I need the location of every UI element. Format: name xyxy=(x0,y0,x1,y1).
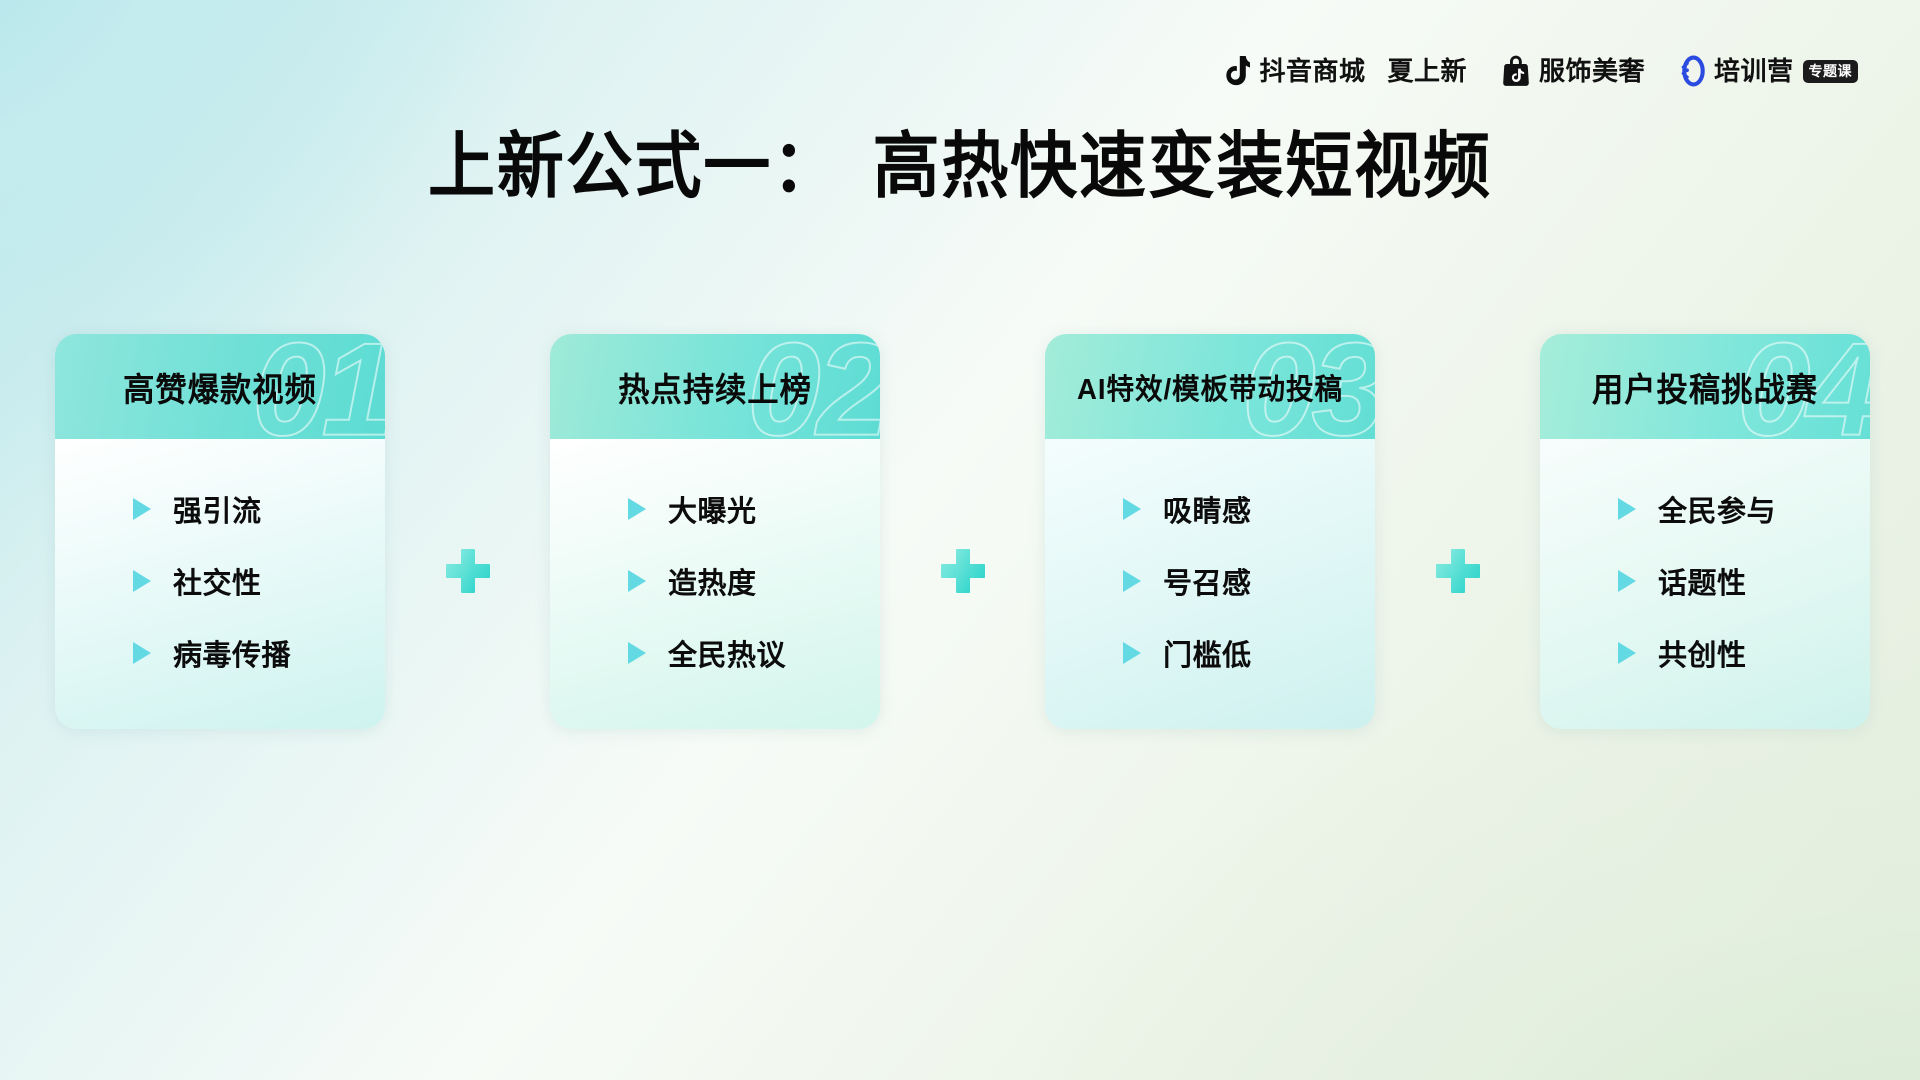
training-camp-logo-icon xyxy=(1677,55,1707,87)
list-item: 病毒传播 xyxy=(133,635,385,670)
bullet-list-4: 全民参与 话题性 共创性 xyxy=(1540,491,1870,670)
camp-label: 培训营 xyxy=(1714,58,1794,84)
card-heading: 高赞爆款视频 xyxy=(123,363,317,411)
list-item: 号召感 xyxy=(1123,563,1375,598)
formula-card-2[interactable]: 02 热点持续上榜 大曝光 造热度 全民热议 xyxy=(550,334,880,729)
plus-icon xyxy=(1436,549,1480,593)
brand-campaign-label: 夏上新 xyxy=(1387,58,1467,84)
list-item: 社交性 xyxy=(133,563,385,598)
list-item: 共创性 xyxy=(1618,635,1870,670)
bullet-label: 全民参与 xyxy=(1658,488,1776,530)
card-body-3: 吸睛感 号召感 门槛低 xyxy=(1045,439,1375,729)
list-item: 造热度 xyxy=(628,563,880,598)
bullet-label: 社交性 xyxy=(173,560,262,602)
triangle-bullet-icon xyxy=(1123,498,1141,520)
plus-separator-1 xyxy=(385,334,550,729)
card-body-1: 强引流 社交性 病毒传播 xyxy=(55,439,385,729)
triangle-bullet-icon xyxy=(133,642,151,664)
card-body-2: 大曝光 造热度 全民热议 xyxy=(550,439,880,729)
card-header-2: 02 热点持续上榜 xyxy=(550,334,880,439)
bullet-label: 病毒传播 xyxy=(173,632,291,674)
formula-card-4[interactable]: 04 用户投稿挑战赛 全民参与 话题性 共创性 xyxy=(1540,334,1870,729)
shopping-bag-icon xyxy=(1501,55,1531,87)
list-item: 大曝光 xyxy=(628,491,880,526)
bullet-list-3: 吸睛感 号召感 门槛低 xyxy=(1045,491,1375,670)
card-heading: AI特效/模板带动投稿 xyxy=(1077,366,1343,408)
bullet-label: 门槛低 xyxy=(1163,632,1252,674)
formula-cards-row: 01 高赞爆款视频 强引流 社交性 病毒传播 02 热点持续上榜 xyxy=(55,334,1869,729)
page-title-main: 高热快速变装短视频 xyxy=(873,127,1492,207)
bullet-label: 大曝光 xyxy=(668,488,757,530)
card-body-4: 全民参与 话题性 共创性 xyxy=(1540,439,1870,729)
brand-name-label: 抖音商城 xyxy=(1259,58,1365,84)
list-item: 全民热议 xyxy=(628,635,880,670)
card-header-1: 01 高赞爆款视频 xyxy=(55,334,385,439)
category-label: 服饰美奢 xyxy=(1539,58,1645,84)
tiktok-note-icon xyxy=(1223,56,1250,87)
page-title: 上新公式一：高热快速变装短视频 xyxy=(67,128,1853,207)
bullet-label: 强引流 xyxy=(173,488,262,530)
triangle-bullet-icon xyxy=(133,498,151,520)
triangle-bullet-icon xyxy=(133,570,151,592)
triangle-bullet-icon xyxy=(1123,570,1141,592)
list-item: 全民参与 xyxy=(1618,491,1870,526)
brand-douyin-mall: 抖音商城 夏上新 xyxy=(1223,56,1467,87)
formula-card-1[interactable]: 01 高赞爆款视频 强引流 社交性 病毒传播 xyxy=(55,334,385,729)
list-item: 门槛低 xyxy=(1123,635,1375,670)
plus-icon xyxy=(941,549,985,593)
triangle-bullet-icon xyxy=(628,642,646,664)
list-item: 强引流 xyxy=(133,491,385,526)
list-item: 吸睛感 xyxy=(1123,491,1375,526)
plus-separator-2 xyxy=(880,334,1045,729)
triangle-bullet-icon xyxy=(1123,642,1141,664)
bullet-list-1: 强引流 社交性 病毒传播 xyxy=(55,491,385,670)
triangle-bullet-icon xyxy=(628,498,646,520)
list-item: 话题性 xyxy=(1618,563,1870,598)
bullet-label: 吸睛感 xyxy=(1163,488,1252,530)
page-title-prefix: 上新公式一： xyxy=(428,127,841,207)
triangle-bullet-icon xyxy=(1618,642,1636,664)
card-heading: 用户投稿挑战赛 xyxy=(1592,363,1818,411)
bullet-label: 造热度 xyxy=(668,560,757,602)
status-badge: 专题课 xyxy=(1803,60,1859,83)
formula-card-3[interactable]: 03 AI特效/模板带动投稿 吸睛感 号召感 门槛低 xyxy=(1045,334,1375,729)
slide-canvas: 抖音商城 夏上新 服饰美奢 培训营 专题课 上新公式一：高热快速变装短视频 xyxy=(0,0,1920,1080)
card-header-3: 03 AI特效/模板带动投稿 xyxy=(1045,334,1375,439)
card-header-4: 04 用户投稿挑战赛 xyxy=(1540,334,1870,439)
card-heading: 热点持续上榜 xyxy=(618,363,812,411)
bullet-label: 共创性 xyxy=(1658,632,1747,674)
plus-icon xyxy=(446,549,490,593)
bullet-label: 号召感 xyxy=(1163,560,1252,602)
bullet-list-2: 大曝光 造热度 全民热议 xyxy=(550,491,880,670)
brand-bar: 抖音商城 夏上新 服饰美奢 培训营 专题课 xyxy=(1223,52,1858,90)
triangle-bullet-icon xyxy=(1618,498,1636,520)
plus-separator-3 xyxy=(1375,334,1540,729)
bullet-label: 全民热议 xyxy=(668,632,786,674)
triangle-bullet-icon xyxy=(1618,570,1636,592)
triangle-bullet-icon xyxy=(628,570,646,592)
bullet-label: 话题性 xyxy=(1658,560,1747,602)
